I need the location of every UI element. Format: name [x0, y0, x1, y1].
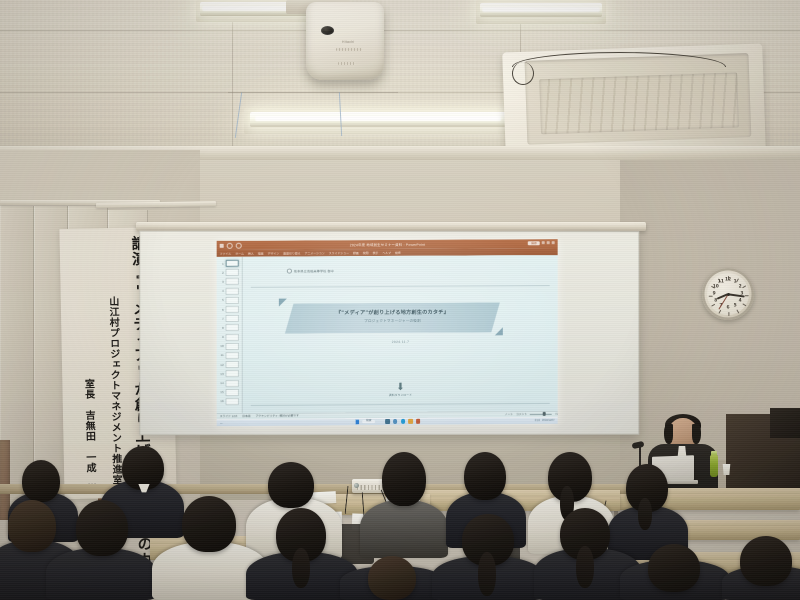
slide-thumbnail-10[interactable]: 10 — [217, 342, 243, 351]
clock-number: 5 — [734, 303, 737, 308]
windows-taskbar[interactable]: ← 検索 8:16 2024/11/07 — [217, 417, 558, 426]
projector-lens-icon — [321, 26, 334, 35]
slide-accent-triangle — [279, 299, 287, 307]
slide-thumbnail-8[interactable]: 8 — [217, 323, 243, 332]
audience-member-head — [648, 544, 700, 592]
accessibility-status[interactable]: アクセシビリティ: 検討が必要です — [256, 414, 299, 418]
fluorescent-tube — [480, 3, 602, 17]
slide-thumbnail-preview[interactable] — [226, 343, 239, 350]
search-input[interactable]: 検索 — [362, 420, 375, 424]
school-crest-icon — [287, 269, 292, 274]
audience-member-head — [382, 452, 426, 506]
projector-lens-icon — [354, 483, 359, 488]
ceiling-seam — [0, 30, 800, 31]
taskbar-center-group[interactable]: 検索 — [355, 419, 421, 424]
slide-thumbnail-preview[interactable] — [226, 380, 239, 387]
ac-louver — [540, 72, 739, 134]
projection-screen-rail — [136, 222, 646, 231]
powerpoint-icon[interactable] — [416, 419, 420, 423]
clock-number: 9 — [713, 292, 716, 297]
ribbon-tab-10[interactable]: 表示 — [373, 251, 379, 255]
slide-thumbnail-number: 16 — [219, 400, 224, 404]
clock-number: 4 — [739, 298, 742, 303]
ceiling-panel-edge — [228, 92, 398, 93]
clock-number: 12 — [725, 278, 731, 283]
slide-thumbnail-number: 14 — [219, 381, 224, 385]
slide-thumbnail-number: 8 — [219, 326, 224, 330]
ribbon-tab-11[interactable]: ヘルプ — [382, 250, 391, 254]
slide-thumbnail-number: 3 — [219, 280, 224, 284]
slide-thumbnail-number: 11 — [219, 354, 224, 358]
slide-guide-line — [251, 285, 550, 288]
slide-thumbnail-12[interactable]: 12 — [217, 360, 243, 369]
slide-thumbnail-number: 12 — [219, 363, 224, 367]
slide-title: 『"メディア"が創り上げる地方創生のカタチ』 — [285, 308, 500, 316]
slide-title-band: 『"メディア"が創り上げる地方創生のカタチ』 プロジェクトマネージャーの役割 — [285, 302, 500, 333]
slide-thumbnail-preview[interactable] — [226, 287, 239, 294]
slide-thumbnail-2[interactable]: 2 — [217, 268, 243, 277]
edge-icon[interactable] — [401, 419, 405, 423]
comments-button[interactable]: コメント — [516, 412, 527, 416]
download-indicator[interactable]: ⬇ 資料ダウンロード — [389, 384, 412, 397]
document-title: 2024年度 地域創生セミナー資料 - PowerPoint — [217, 241, 558, 248]
projector-vent — [338, 62, 356, 65]
slide-thumbnail-preview[interactable] — [226, 324, 239, 331]
slide-thumbnail-preview[interactable] — [226, 370, 239, 377]
ribbon-tab-2[interactable]: 挿入 — [248, 251, 254, 255]
audience-member-body — [360, 500, 448, 558]
slide-thumbnail-preview[interactable] — [226, 278, 239, 285]
language-indicator[interactable]: 日本語 — [242, 414, 250, 418]
ribbon-tab-7[interactable]: スライドショー — [329, 251, 349, 255]
slide-thumbnail-16[interactable]: 16 — [217, 397, 243, 406]
zoom-slider[interactable] — [530, 413, 552, 414]
slide-thumbnail-number: 4 — [219, 289, 224, 293]
ponytail — [576, 546, 594, 588]
lecture-room-photo: Hitachi 講演『"メディア"が創り上げる地域創生のカタチ』 山江村プロジェ… — [0, 0, 800, 600]
zoom-slider-knob[interactable] — [543, 412, 545, 416]
maximize-icon[interactable] — [547, 242, 550, 245]
powerpoint-window[interactable]: 2024年度 地域創生セミナー資料 - PowerPoint 保存 ファイルホー… — [217, 239, 558, 426]
slide-thumbnail-number: 1 — [219, 261, 224, 265]
save-button[interactable]: 保存 — [528, 241, 540, 246]
clock-number: 2 — [739, 285, 742, 290]
ribbon-tab-1[interactable]: ホーム — [235, 251, 244, 255]
slide-thumbnail-4[interactable]: 4 — [217, 286, 243, 295]
audience-member-head — [122, 446, 164, 490]
taskbar-clock: 8:16 — [535, 419, 540, 422]
audience-member-head — [740, 536, 792, 586]
clock-number: 6 — [726, 305, 729, 310]
projector-brand-label: Hitachi — [342, 40, 354, 44]
taskbar-app-icons[interactable] — [385, 419, 420, 423]
explorer-icon[interactable] — [409, 419, 413, 423]
slide-thumbnail-9[interactable]: 9 — [217, 332, 243, 341]
projection-screen: 2024年度 地域創生セミナー資料 - PowerPoint 保存 ファイルホー… — [139, 231, 639, 436]
slide-header-text: 熊本県立南稜高等学校 御中 — [294, 268, 334, 273]
slide-thumbnail-preview[interactable] — [226, 361, 239, 368]
clock-number: 1 — [734, 280, 737, 285]
projector-vent — [336, 48, 362, 51]
slide-thumbnail-15[interactable]: 15 — [217, 388, 243, 397]
slide-thumbnail-preview[interactable] — [226, 398, 239, 405]
powerpoint-body: 12345678910111213141516 熊本県立南稜高等学校 御中 『"… — [217, 255, 558, 413]
slide-thumbnail-7[interactable]: 7 — [217, 314, 243, 323]
presenter-hair-side — [664, 424, 673, 444]
audience-member-head — [182, 496, 236, 552]
slide-guide-line — [251, 403, 550, 406]
ponytail — [638, 498, 652, 530]
slide-thumbnail-1[interactable]: 1 — [217, 259, 243, 268]
green-tea-bottle — [710, 455, 718, 477]
slide-thumbnail-number: 9 — [219, 335, 224, 339]
slide-thumbnail-number: 5 — [219, 298, 224, 302]
slide-date: 2024.11.7 — [243, 339, 558, 345]
slide-thumbnail-preview[interactable] — [226, 334, 239, 341]
ribbon-tab-4[interactable]: デザイン — [268, 251, 280, 255]
clock-face: 12 1 2 3 4 5 6 7 8 9 10 11 — [707, 273, 749, 315]
statusbar-right-group[interactable]: ノート コメント 72% — [505, 412, 558, 416]
clock-number: 11 — [718, 280, 724, 285]
audience-member-head — [22, 460, 60, 502]
audience-member-head — [464, 452, 506, 500]
slide-thumbnail-11[interactable]: 11 — [217, 351, 243, 360]
slide-thumbnail-preview[interactable] — [226, 269, 239, 276]
slide-thumbnail-3[interactable]: 3 — [217, 277, 243, 286]
ribbon-tab-6[interactable]: アニメーション — [305, 251, 325, 255]
slide-thumbnail-preview[interactable] — [226, 352, 239, 359]
slide-thumbnail-number: 10 — [219, 344, 224, 348]
slide-thumbnail-preview[interactable] — [226, 260, 239, 267]
download-arrow-icon: ⬇ — [389, 384, 412, 392]
wall-clock: 12 1 2 3 4 5 6 7 8 9 10 11 — [702, 268, 754, 320]
ceiling-seam — [232, 0, 233, 160]
zoom-level[interactable]: 72% — [555, 412, 558, 416]
audience-member-head — [8, 500, 56, 552]
slide-thumbnail-preview[interactable] — [226, 315, 239, 322]
audience-member-head — [268, 462, 314, 508]
task-view-icon[interactable] — [385, 419, 389, 423]
ac-cable-loop — [512, 62, 534, 85]
slide-indicator: スライド 1/16 — [220, 414, 237, 418]
presenter-hair-side — [692, 424, 701, 444]
notes-button[interactable]: ノート — [505, 412, 513, 416]
ponytail — [292, 548, 310, 588]
ceiling-projector: Hitachi — [306, 2, 384, 80]
slide-thumbnail-13[interactable]: 13 — [217, 369, 243, 378]
slide-accent-triangle — [495, 327, 503, 335]
slide-thumbnail-preview[interactable] — [226, 297, 239, 304]
ribbon-tab-5[interactable]: 画面切り替え — [283, 251, 300, 255]
slide-thumbnail-5[interactable]: 5 — [217, 296, 243, 305]
audience-member-head — [368, 556, 416, 600]
ribbon-tab-12[interactable]: 検索 — [395, 250, 401, 254]
clock-number: 10 — [713, 285, 719, 290]
ribbon-tab-0[interactable]: ファイル — [220, 251, 232, 255]
banner-speaker-text: 室長 吉無田 一成 様 — [82, 378, 94, 494]
clock-center-pin — [727, 293, 730, 296]
ribbon-tab-9[interactable]: 校閲 — [363, 251, 369, 255]
fluorescent-tube — [250, 112, 506, 127]
edge-browser-icon[interactable]: ← — [220, 420, 224, 425]
slide-thumbnail-14[interactable]: 14 — [217, 378, 243, 387]
slide-header-logo: 熊本県立南稜高等学校 御中 — [287, 268, 334, 273]
slide-thumbnail-preview[interactable] — [226, 389, 239, 396]
slide-thumbnail-number: 13 — [219, 372, 224, 376]
system-tray[interactable]: 8:16 2024/11/07 — [535, 419, 555, 422]
taskbar-date: 2024/11/07 — [542, 419, 555, 422]
slide-thumbnail-number: 15 — [219, 390, 224, 394]
close-icon[interactable] — [552, 242, 555, 245]
slide-canvas[interactable]: 熊本県立南稜高等学校 御中 『"メディア"が創り上げる地方創生のカタチ』 プロジ… — [243, 255, 558, 413]
start-icon[interactable] — [355, 419, 360, 424]
slide-thumbnail-panel[interactable]: 12345678910111213141516 — [217, 257, 243, 413]
audience-member-head — [76, 500, 128, 556]
ponytail — [478, 552, 496, 596]
ribbon-tab-8[interactable]: 録画 — [353, 251, 359, 255]
slide-thumbnail-number: 7 — [219, 317, 224, 321]
slide-subtitle: プロジェクトマネージャーの役割 — [285, 318, 500, 324]
chat-icon[interactable] — [393, 419, 397, 423]
slide-thumbnail-number: 2 — [219, 271, 224, 275]
minimize-icon[interactable] — [542, 242, 545, 245]
download-label: 資料ダウンロード — [389, 393, 412, 397]
slide-thumbnail-number: 6 — [219, 307, 224, 311]
slide-thumbnail-6[interactable]: 6 — [217, 305, 243, 314]
av-equipment — [770, 408, 800, 438]
slide-thumbnail-preview[interactable] — [226, 306, 239, 313]
window-controls[interactable]: 保存 — [528, 241, 555, 246]
ribbon-tab-3[interactable]: 描画 — [258, 251, 264, 255]
